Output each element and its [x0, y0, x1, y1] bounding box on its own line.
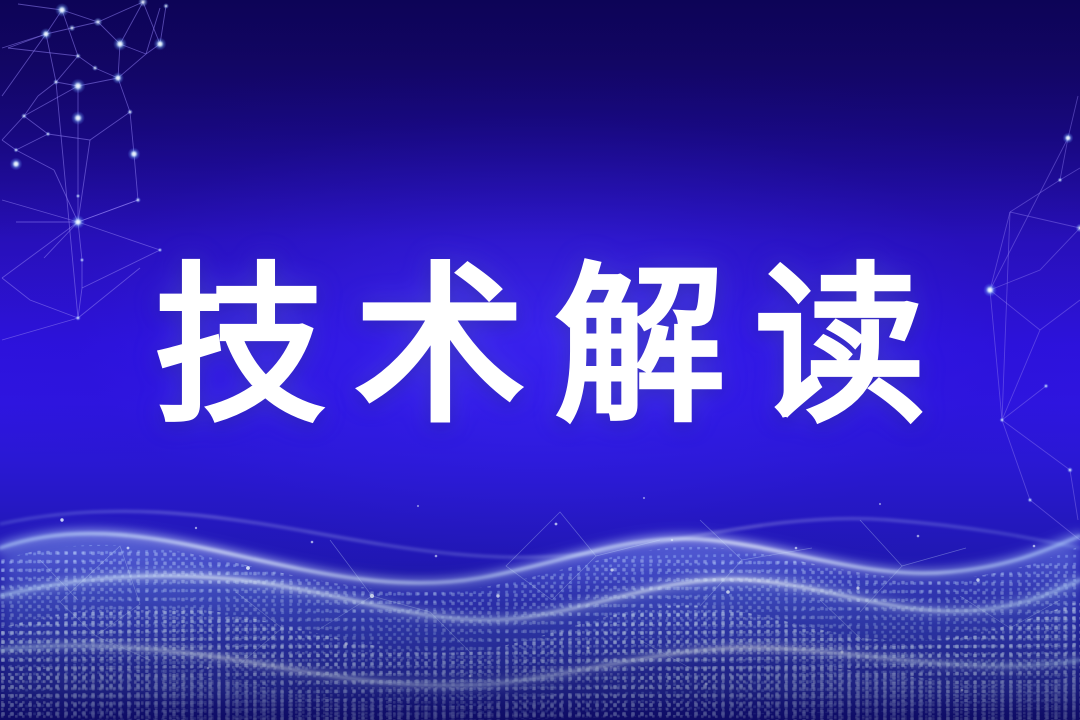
title-wrap: 技术解读: [0, 252, 1080, 442]
bottom-vignette: [0, 560, 1080, 720]
tech-banner: 技术解读: [0, 0, 1080, 720]
banner-title: 技术解读: [126, 252, 954, 442]
top-vignette: [0, 0, 1080, 240]
